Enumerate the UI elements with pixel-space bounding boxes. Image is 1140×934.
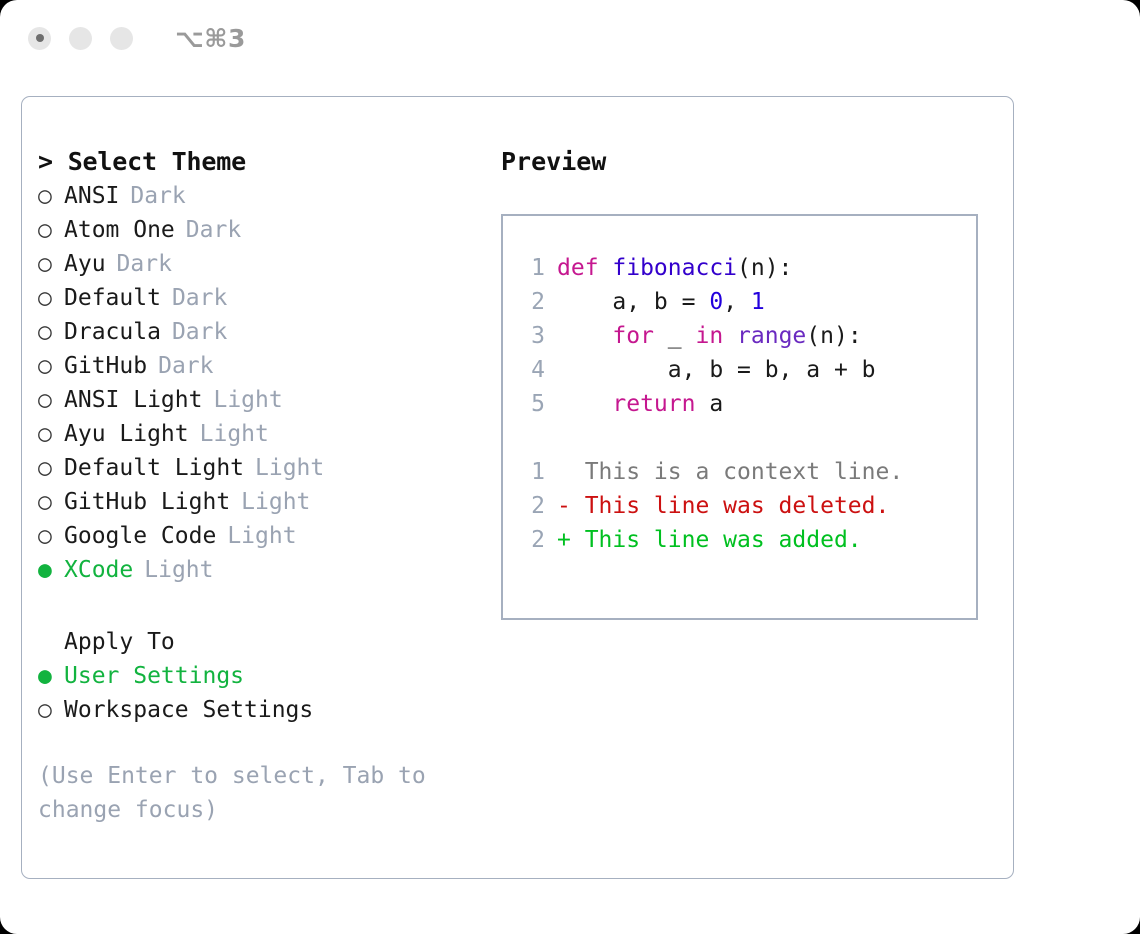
theme-list-column: > Select Theme ○ANSIDark○Atom OneDark○Ay… <box>38 145 498 587</box>
keyboard-hint: (Use Enter to select, Tab to change focu… <box>38 759 458 827</box>
theme-list-item[interactable]: ○AyuDark <box>38 247 498 281</box>
preview-column: Preview 1def fibonacci(n):2 a, b = 0, 13… <box>501 145 991 620</box>
code-token-id: a <box>709 391 723 417</box>
theme-list-item[interactable]: ○DefaultDark <box>38 281 498 315</box>
keyboard-hint-line-1: (Use Enter to select, Tab to <box>38 759 458 793</box>
code-token-num: 0 <box>709 289 723 315</box>
code-line-content: a, b = 0, 1 <box>557 285 765 319</box>
keyboard-hint-line-2: change focus) <box>38 793 458 827</box>
theme-list-item[interactable]: ○GitHub LightLight <box>38 485 498 519</box>
theme-name: GitHub Light <box>64 485 230 519</box>
theme-list-item[interactable]: ○Google CodeLight <box>38 519 498 553</box>
code-line: 3 for _ in range(n): <box>517 319 976 353</box>
apply-to-group: Apply To ●User Settings○Workspace Settin… <box>38 625 498 727</box>
radio-unselected-icon: ○ <box>38 519 64 553</box>
radio-unselected-icon: ○ <box>38 281 64 315</box>
theme-list-item[interactable]: ○Default LightLight <box>38 451 498 485</box>
line-number: 2 <box>517 523 545 557</box>
line-number: 5 <box>517 387 545 421</box>
theme-kind-badge: Light <box>213 383 282 417</box>
theme-name: XCode <box>64 553 133 587</box>
code-token-pun: (n): <box>737 255 792 281</box>
radio-unselected-icon: ○ <box>38 315 64 349</box>
theme-list-item[interactable]: ○Atom OneDark <box>38 213 498 247</box>
title-bar: ⌥⌘3 <box>0 0 1140 76</box>
theme-list-item[interactable]: ○Ayu LightLight <box>38 417 498 451</box>
theme-kind-badge: Light <box>144 553 213 587</box>
traffic-light-group <box>28 27 133 50</box>
code-token-id: _ <box>654 323 696 349</box>
code-sample: 1def fibonacci(n):2 a, b = 0, 13 for _ i… <box>517 251 976 421</box>
theme-name: Atom One <box>64 213 175 247</box>
theme-list-item[interactable]: ○ANSI LightLight <box>38 383 498 417</box>
theme-list-item[interactable]: ○ANSIDark <box>38 179 498 213</box>
traffic-light-close[interactable] <box>28 27 51 50</box>
apply-to-option-label: Workspace Settings <box>64 693 313 727</box>
traffic-light-minimize[interactable] <box>69 27 92 50</box>
radio-selected-icon: ● <box>38 659 64 693</box>
theme-list-item[interactable]: ●XCodeLight <box>38 553 498 587</box>
apply-to-option[interactable]: ●User Settings <box>38 659 498 693</box>
theme-name: ANSI <box>64 179 119 213</box>
apply-to-header: Apply To <box>38 625 498 659</box>
theme-name: GitHub <box>64 349 147 383</box>
code-spacer <box>517 421 976 455</box>
theme-list-header: > Select Theme <box>38 145 498 179</box>
code-token-id: a, b = b, a + b <box>557 357 876 383</box>
app-window: ⌥⌘3 > Select Theme ○ANSIDark○Atom OneDar… <box>0 0 1140 934</box>
preview-box: 1def fibonacci(n):2 a, b = 0, 13 for _ i… <box>501 214 978 620</box>
traffic-light-zoom[interactable] <box>110 27 133 50</box>
code-token-id: a, b = <box>557 289 709 315</box>
line-number: 4 <box>517 353 545 387</box>
radio-unselected-icon: ○ <box>38 693 64 727</box>
line-number: 1 <box>517 455 545 489</box>
code-line: 1def fibonacci(n): <box>517 251 976 285</box>
line-number: 3 <box>517 319 545 353</box>
diff-line: 1 This is a context line. <box>517 455 976 489</box>
code-line: 5 return a <box>517 387 976 421</box>
preview-title: Preview <box>501 145 991 179</box>
code-line-content: def fibonacci(n): <box>557 251 792 285</box>
code-token-num: 1 <box>751 289 765 315</box>
diff-line-content: This is a context line. <box>557 455 903 489</box>
diff-sample: 1 This is a context line.2- This line wa… <box>517 455 976 557</box>
theme-kind-badge: Light <box>255 451 324 485</box>
code-token-kw: def <box>557 255 612 281</box>
theme-kind-badge: Light <box>200 417 269 451</box>
radio-unselected-icon: ○ <box>38 213 64 247</box>
radio-unselected-icon: ○ <box>38 349 64 383</box>
keyboard-shortcut-label: ⌥⌘3 <box>175 24 246 53</box>
theme-kind-badge: Light <box>241 485 310 519</box>
apply-to-options: ●User Settings○Workspace Settings <box>38 659 498 727</box>
code-token-call: range <box>737 323 806 349</box>
apply-to-option[interactable]: ○Workspace Settings <box>38 693 498 727</box>
diff-line-content: - This line was deleted. <box>557 489 889 523</box>
radio-unselected-icon: ○ <box>38 451 64 485</box>
code-token-kw: in <box>695 323 737 349</box>
theme-list: ○ANSIDark○Atom OneDark○AyuDark○DefaultDa… <box>38 179 498 587</box>
theme-list-item[interactable]: ○DraculaDark <box>38 315 498 349</box>
diff-line-content: + This line was added. <box>557 523 862 557</box>
code-token-fn: fibonacci <box>612 255 737 281</box>
code-line-content: return a <box>557 387 723 421</box>
radio-unselected-icon: ○ <box>38 247 64 281</box>
theme-kind-badge: Dark <box>130 179 185 213</box>
theme-kind-badge: Dark <box>186 213 241 247</box>
radio-unselected-icon: ○ <box>38 485 64 519</box>
theme-kind-badge: Dark <box>158 349 213 383</box>
radio-selected-icon: ● <box>38 553 64 587</box>
theme-kind-badge: Light <box>227 519 296 553</box>
diff-line: 2+ This line was added. <box>517 523 976 557</box>
code-token-kw: return <box>557 391 709 417</box>
code-token-pun: , <box>723 289 751 315</box>
line-number: 2 <box>517 285 545 319</box>
theme-name: Ayu <box>64 247 106 281</box>
diff-line: 2- This line was deleted. <box>517 489 976 523</box>
theme-name: Dracula <box>64 315 161 349</box>
theme-list-item[interactable]: ○GitHubDark <box>38 349 498 383</box>
code-line-content: a, b = b, a + b <box>557 353 876 387</box>
theme-name: Default <box>64 281 161 315</box>
theme-name: Default Light <box>64 451 244 485</box>
theme-name: ANSI Light <box>64 383 202 417</box>
code-line: 2 a, b = 0, 1 <box>517 285 976 319</box>
theme-kind-badge: Dark <box>172 315 227 349</box>
theme-kind-badge: Dark <box>172 281 227 315</box>
theme-kind-badge: Dark <box>117 247 172 281</box>
radio-unselected-icon: ○ <box>38 417 64 451</box>
radio-unselected-icon: ○ <box>38 383 64 417</box>
radio-unselected-icon: ○ <box>38 179 64 213</box>
main-panel: > Select Theme ○ANSIDark○Atom OneDark○Ay… <box>21 96 1014 879</box>
code-token-kw: for <box>557 323 654 349</box>
record-dot-icon <box>36 34 44 42</box>
apply-to-option-label: User Settings <box>64 659 244 693</box>
theme-name: Ayu Light <box>64 417 189 451</box>
line-number: 2 <box>517 489 545 523</box>
code-line: 4 a, b = b, a + b <box>517 353 976 387</box>
theme-name: Google Code <box>64 519 216 553</box>
code-line-content: for _ in range(n): <box>557 319 862 353</box>
code-token-pun: (n): <box>806 323 861 349</box>
line-number: 1 <box>517 251 545 285</box>
